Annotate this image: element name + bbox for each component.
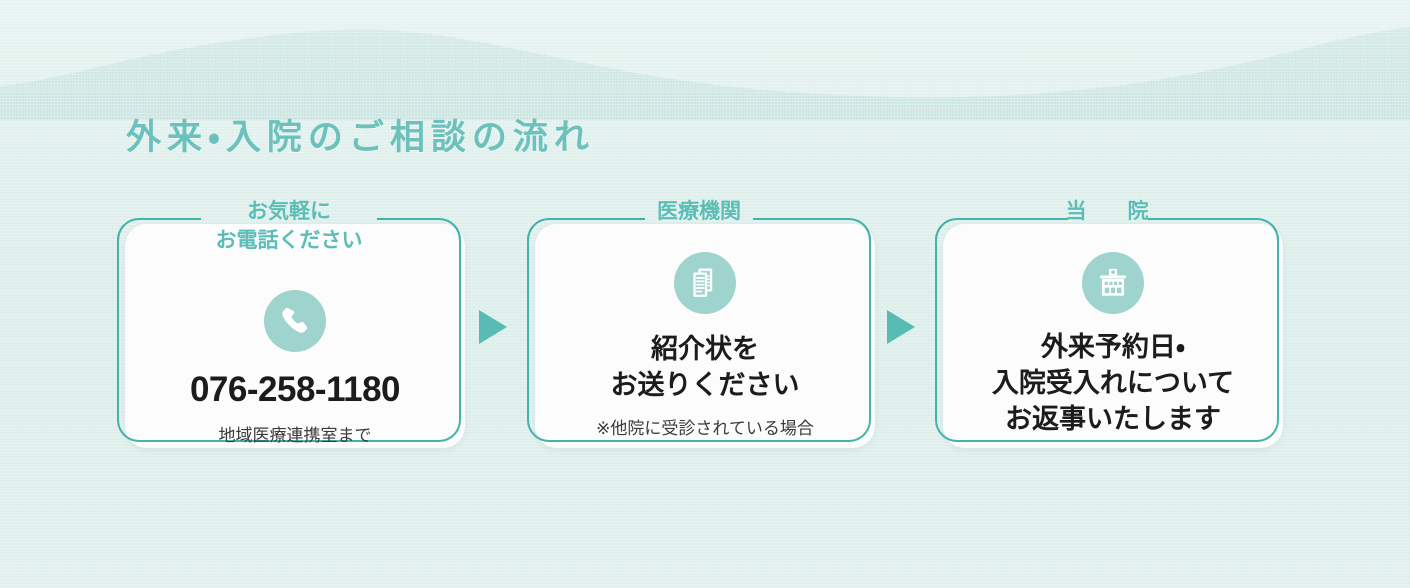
page-root: 外来・入院のご相談の流れ お気軽に お電話ください 076-258-1180 地… — [0, 0, 1410, 588]
flow-step-hospital: 当 院 — [935, 204, 1279, 442]
flow-step-referral: 医療機関 紹 — [527, 204, 871, 442]
step-lead-referral: 紹介状を お送りください — [611, 332, 800, 404]
step-lead-hospital: 外来予約日・ 入院受入れについて お返事いたします — [992, 330, 1234, 438]
phone-icon — [264, 290, 326, 352]
card-outline-top-right-segment — [1145, 218, 1257, 220]
hospital-icon — [1082, 252, 1144, 314]
documents-icon — [674, 252, 736, 314]
flow-diagram: お気軽に お電話ください 076-258-1180 地域医療連携室まで 医療機関 — [0, 204, 1410, 449]
card-outline-top-left-segment — [549, 218, 645, 220]
phone-number[interactable]: 076-258-1180 — [190, 372, 400, 407]
card-outline-top-left-segment — [957, 218, 1069, 220]
arrow-right-icon — [887, 310, 915, 344]
card-outline-top-right-segment — [377, 218, 439, 220]
arrow-right-icon — [479, 310, 507, 344]
step-note-referral: ※他院に受診されている場合 — [596, 418, 814, 440]
phone-note: 地域医療連携室まで — [219, 425, 372, 447]
background-wave — [0, 0, 1410, 120]
card-outline-top-left-segment — [139, 218, 201, 220]
card-body: 076-258-1180 地域医療連携室まで — [125, 224, 465, 448]
flow-step-contact: お気軽に お電話ください 076-258-1180 地域医療連携室まで — [117, 204, 461, 442]
card-body: 外来予約日・ 入院受入れについて お返事いたします — [943, 224, 1283, 448]
card-outline-top-right-segment — [753, 218, 849, 220]
page-title: 外来・入院のご相談の流れ — [126, 117, 595, 159]
card-body: 紹介状を お送りください ※他院に受診されている場合 — [535, 224, 875, 448]
